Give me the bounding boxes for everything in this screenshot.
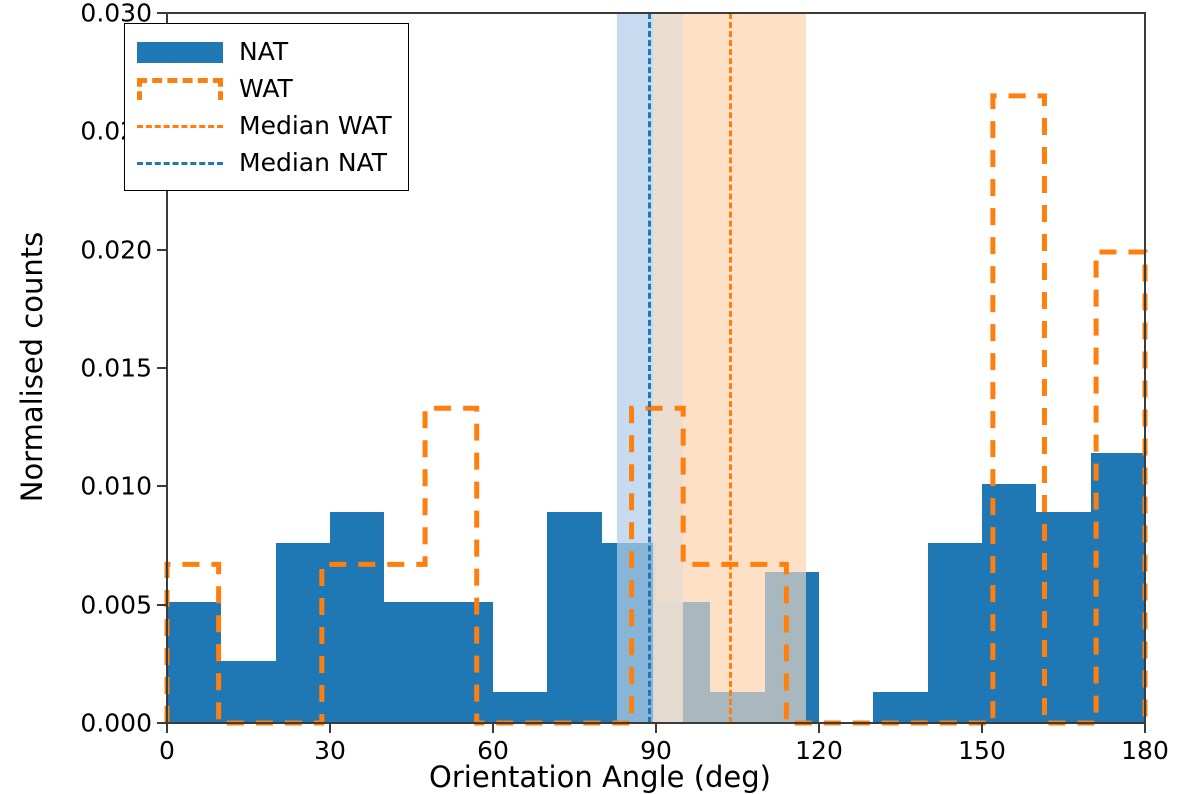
y-tick-label: 0.020 xyxy=(80,235,152,264)
legend-key-glyph xyxy=(137,125,223,128)
legend-label: NAT xyxy=(239,37,288,66)
y-tick-label: 0.015 xyxy=(80,354,152,383)
median-line xyxy=(648,13,651,723)
x-tick-mark xyxy=(1144,723,1146,733)
legend-label: Median NAT xyxy=(239,148,387,177)
x-tick-mark xyxy=(981,723,983,733)
legend-swatch-icon xyxy=(137,39,223,65)
legend: NATWATMedian WATMedian NAT xyxy=(124,23,409,191)
x-tick-mark xyxy=(329,723,331,733)
figure: 0.0000.0050.0100.0150.0200.0250.030 0306… xyxy=(0,0,1200,794)
y-tick-label: 0.010 xyxy=(80,472,152,501)
legend-swatch-icon xyxy=(137,76,223,102)
x-tick-mark xyxy=(655,723,657,733)
x-tick-mark xyxy=(166,723,168,733)
axis-spine-top xyxy=(166,12,1146,14)
y-tick-label: 0.000 xyxy=(80,709,152,738)
y-tick-mark xyxy=(157,249,167,251)
y-axis-label: Normalised counts xyxy=(15,67,49,667)
median-line xyxy=(729,13,732,723)
legend-swatch-icon xyxy=(137,113,223,139)
legend-item[interactable]: Median WAT xyxy=(137,107,392,144)
x-tick-mark xyxy=(818,723,820,733)
legend-key-glyph xyxy=(137,78,223,100)
y-tick-mark xyxy=(157,485,167,487)
legend-item[interactable]: NAT xyxy=(137,33,392,70)
legend-label: WAT xyxy=(239,74,293,103)
legend-item[interactable]: Median NAT xyxy=(137,144,392,181)
x-axis-label: Orientation Angle (deg) xyxy=(0,760,1200,794)
legend-key-glyph xyxy=(137,162,223,165)
y-tick-mark xyxy=(157,604,167,606)
legend-swatch-icon xyxy=(137,150,223,176)
axis-spine-right xyxy=(1144,13,1146,724)
legend-item[interactable]: WAT xyxy=(137,70,392,107)
legend-label: Median WAT xyxy=(239,111,392,140)
legend-key-glyph xyxy=(137,42,223,63)
y-tick-mark xyxy=(157,12,167,14)
y-tick-mark xyxy=(157,367,167,369)
x-tick-mark xyxy=(492,723,494,733)
y-tick-label: 0.005 xyxy=(80,590,152,619)
